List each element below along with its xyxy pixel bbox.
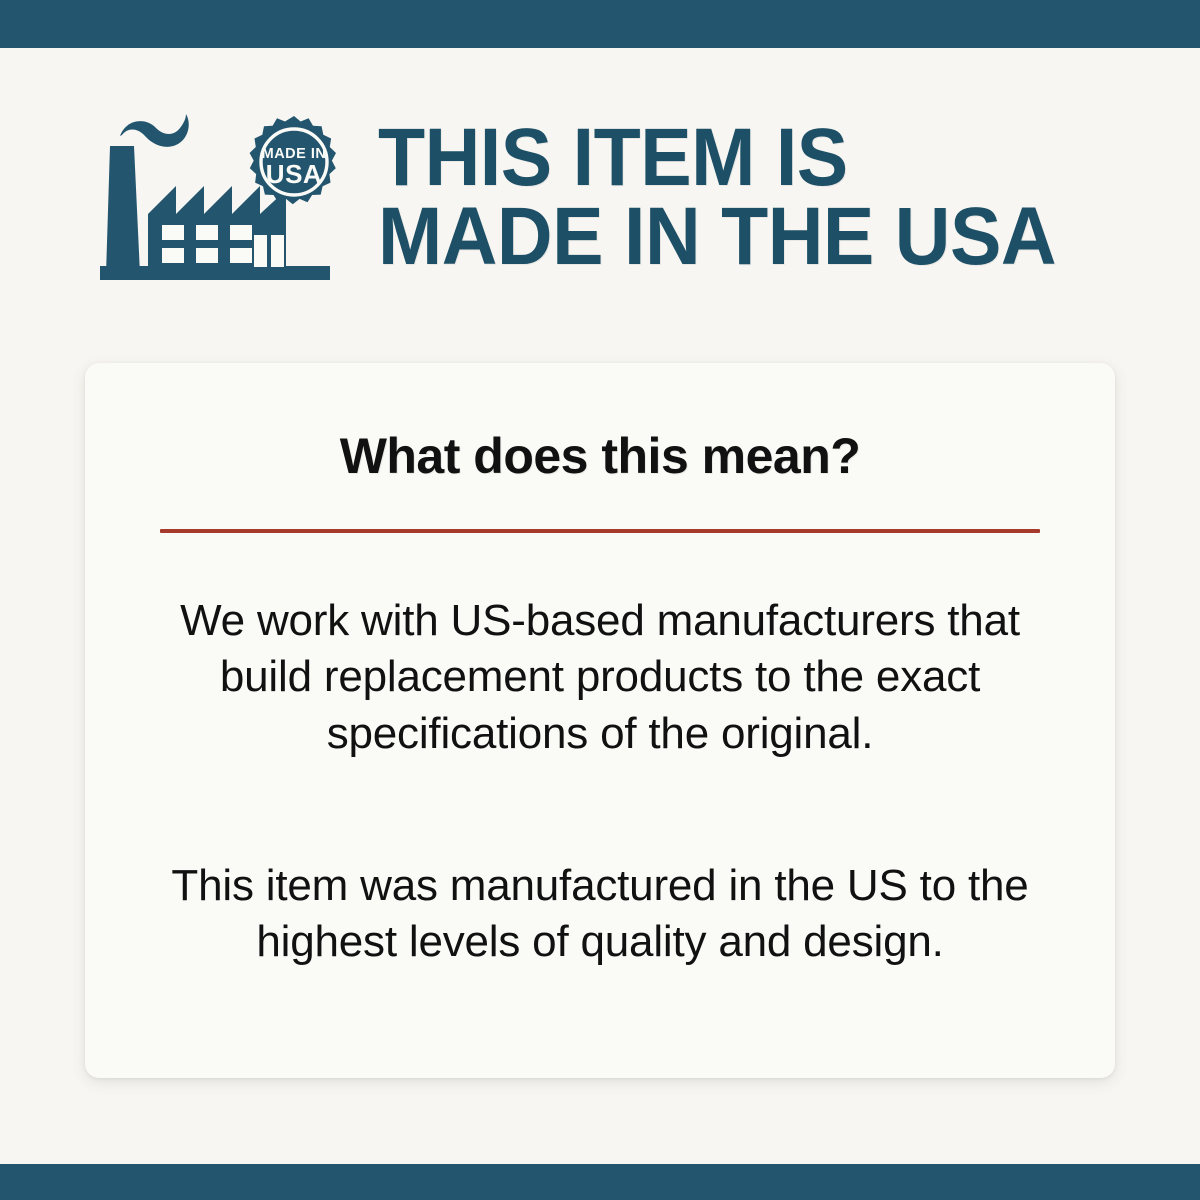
page-title: THIS ITEM IS MADE IN THE USA	[378, 119, 1056, 276]
badge-line2-text: USA	[266, 159, 322, 189]
card-paragraph-1: We work with US-based manufacturers that…	[160, 533, 1040, 762]
card-paragraph-2: This item was manufactured in the US to …	[160, 762, 1040, 971]
card-heading: What does this mean?	[85, 363, 1115, 485]
made-in-usa-factory-logo: MADE IN USA	[100, 106, 350, 291]
top-brand-bar	[0, 0, 1200, 48]
made-in-usa-badge-icon: MADE IN USA	[250, 116, 336, 204]
header: MADE IN USA THIS ITEM IS MADE IN THE USA	[0, 48, 1200, 348]
info-card: What does this mean? We work with US-bas…	[85, 363, 1115, 1078]
bottom-brand-bar	[0, 1164, 1200, 1200]
factory-icon: MADE IN USA	[100, 106, 350, 291]
